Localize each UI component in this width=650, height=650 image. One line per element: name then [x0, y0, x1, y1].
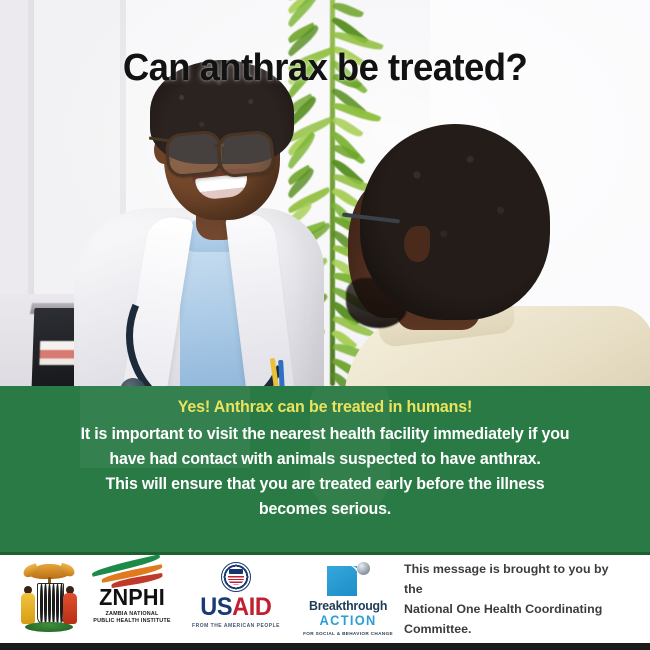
patient-figure	[352, 120, 650, 386]
shield-wave	[52, 584, 55, 624]
usaid-wordmark-us: US	[200, 593, 232, 621]
supporter-figure-left	[20, 586, 36, 626]
znphi-wing-icon	[91, 562, 173, 584]
patient-ear	[404, 226, 430, 262]
credit-line-1: This message is brought to you by the	[404, 562, 608, 596]
message-band: Yes! Anthrax can be treated in humans! I…	[0, 386, 650, 555]
breakthrough-wordmark: Breakthrough	[309, 599, 387, 612]
logo-znphi: ZNPHI ZAMBIA NATIONAL PUBLIC HEALTH INST…	[84, 562, 180, 625]
credit-line-3: Committee.	[404, 622, 471, 636]
supporter-robe-right	[63, 593, 77, 624]
usaid-wordmark: USAID	[200, 595, 271, 620]
znphi-subtitle: ZAMBIA NATIONAL PUBLIC HEALTH INSTITUTE	[93, 611, 170, 625]
coat-of-arms-base	[25, 622, 73, 632]
supporter-robe-left	[21, 593, 35, 624]
doctor-figure	[92, 58, 342, 386]
footer: ZNPHI ZAMBIA NATIONAL PUBLIC HEALTH INST…	[0, 555, 650, 643]
shield-wave	[44, 584, 47, 624]
znphi-wordmark: ZNPHI	[99, 586, 165, 609]
logo-breakthrough-action: Breakthrough ACTION FOR SOCIAL & BEHAVIO…	[292, 562, 404, 636]
supporter-figure-right	[62, 586, 78, 626]
logo-zambia-coat-of-arms	[18, 562, 80, 632]
anthrax-treatment-poster: Can anthrax be treated? Yes! Anthrax can…	[0, 0, 650, 650]
message-body-line-2: have had contact with animals suspected …	[109, 450, 540, 468]
breakthrough-action-subtitle: FOR SOCIAL & BEHAVIOR CHANGE	[303, 631, 393, 636]
coat-of-arms-icon	[18, 562, 80, 632]
credit-text: This message is brought to you by the Na…	[404, 559, 650, 639]
message-body-line-3: This will ensure that you are treated ea…	[106, 475, 545, 493]
doctor-glasses-left-lens	[164, 130, 224, 179]
usaid-wordmark-aid: AID	[232, 593, 271, 621]
shield-wave	[56, 584, 59, 624]
breakthrough-sphere-icon	[357, 562, 370, 575]
page-title: Can anthrax be treated?	[13, 47, 637, 90]
doctor-glasses-right-lens	[216, 130, 276, 179]
znphi-subtitle-line-2: PUBLIC HEALTH INSTITUTE	[93, 618, 170, 624]
bottom-bar	[0, 643, 650, 650]
partner-logos: ZNPHI ZAMBIA NATIONAL PUBLIC HEALTH INST…	[0, 562, 404, 636]
usaid-seal-icon	[221, 562, 251, 592]
credit-line-2: National One Health Coordinating	[404, 602, 602, 616]
logo-usaid: USAID FROM THE AMERICAN PEOPLE	[184, 562, 288, 629]
shield-icon	[37, 583, 64, 625]
message-body: It is important to visit the nearest hea…	[43, 422, 608, 522]
action-wordmark: ACTION	[319, 614, 376, 628]
usaid-subtitle: FROM THE AMERICAN PEOPLE	[192, 623, 280, 629]
shield-wave	[48, 584, 51, 624]
message-body-line-1: It is important to visit the nearest hea…	[81, 425, 570, 443]
message-body-line-4: becomes serious.	[259, 500, 391, 518]
shield-wave	[40, 584, 43, 624]
pen	[285, 362, 291, 386]
message-headline: Yes! Anthrax can be treated in humans!	[43, 398, 608, 417]
znphi-subtitle-line-1: ZAMBIA NATIONAL	[105, 611, 158, 617]
pocket-pens	[272, 358, 298, 386]
pen	[278, 360, 285, 386]
breakthrough-action-mark-icon	[325, 562, 371, 596]
